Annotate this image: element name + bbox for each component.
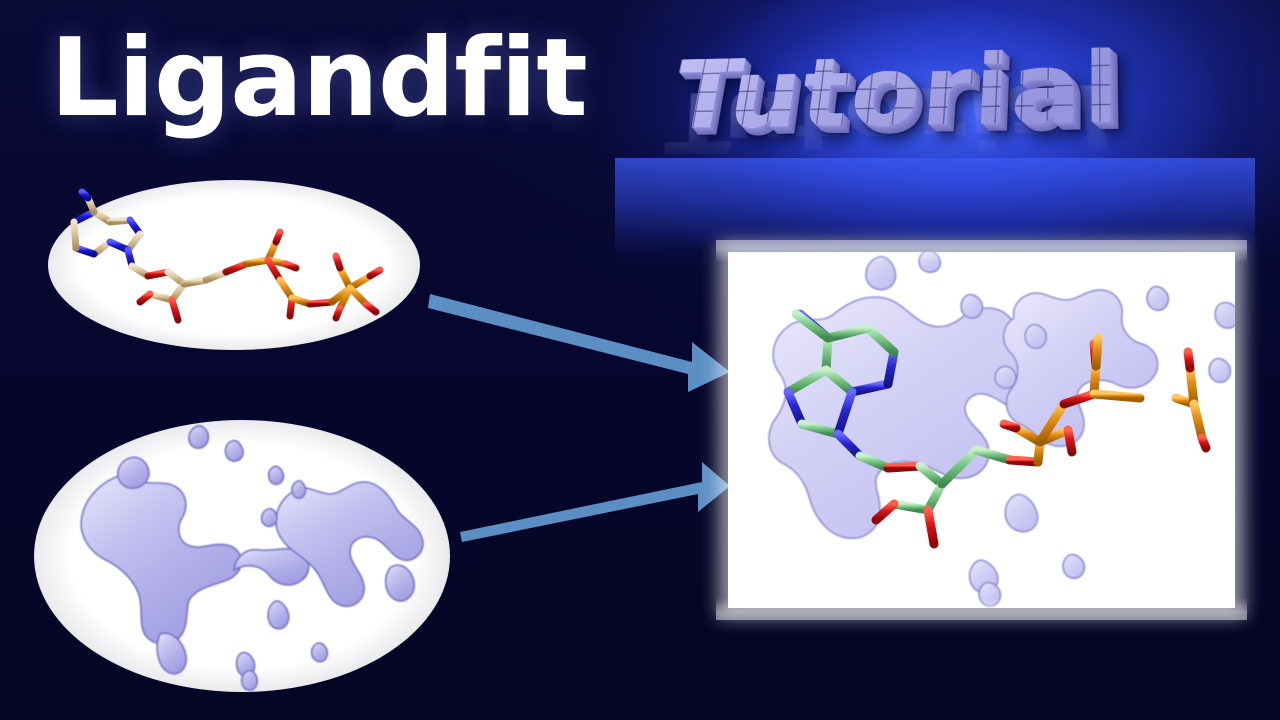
input-density-plate: [34, 420, 450, 692]
arrow-right-icon: [430, 440, 730, 550]
slide-canvas: Ligandfit Tutorial Tutorial Tutorial: [0, 0, 1280, 720]
tutorial-3d-wordmark: Tutorial Tutorial Tutorial: [655, 8, 1215, 243]
page-title: Ligandfit: [50, 22, 587, 135]
tutorial-extrusion-text: Tutorial: [663, 29, 1223, 151]
input-ligand-plate: [48, 180, 420, 350]
density-blob-icon: [34, 420, 450, 692]
fitted-ligand-result-panel: [728, 252, 1235, 608]
arrow-right-icon: [420, 280, 740, 390]
atp-molecule-icon: [48, 180, 420, 350]
fitted-ligand-icon: [728, 252, 1235, 608]
